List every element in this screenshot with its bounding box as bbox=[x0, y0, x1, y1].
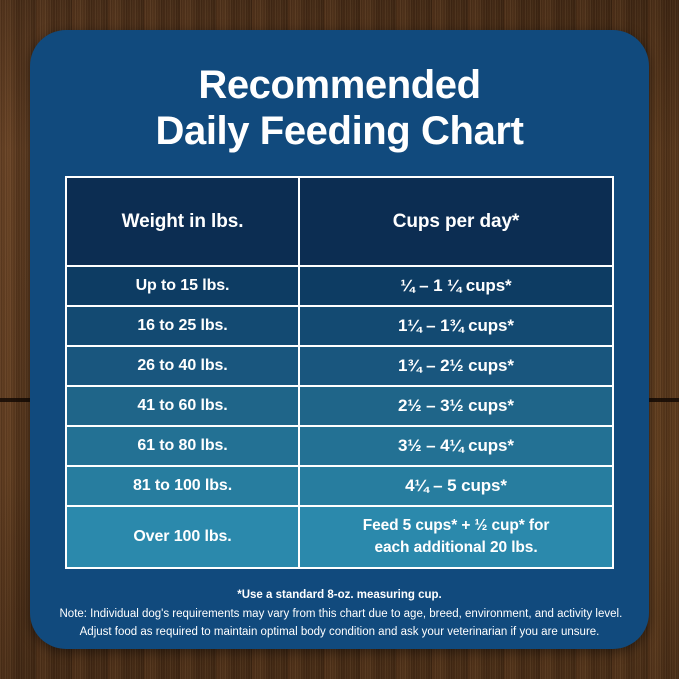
cell-cups: Feed 5 cups* + ½ cup* for each additiona… bbox=[300, 507, 612, 567]
cell-cups: 1¼ – 1¾ cups* bbox=[300, 307, 612, 345]
cell-weight: 41 to 60 lbs. bbox=[67, 387, 300, 425]
cell-weight: Up to 15 lbs. bbox=[67, 267, 300, 305]
table-row: 61 to 80 lbs. 3½ – 4¼ cups* bbox=[67, 427, 612, 467]
column-header-weight: Weight in lbs. bbox=[67, 178, 300, 265]
feeding-chart-table: Weight in lbs. Cups per day* Up to 15 lb… bbox=[65, 176, 614, 569]
footnote-measuring-cup: *Use a standard 8-oz. measuring cup. bbox=[60, 586, 620, 605]
cell-cups-line-1: Feed 5 cups* + ½ cup* for bbox=[363, 515, 550, 537]
cell-weight: 61 to 80 lbs. bbox=[67, 427, 300, 465]
page-title-line-1: Recommended bbox=[30, 63, 649, 109]
cell-cups: ¼ – 1 ¼ cups* bbox=[300, 267, 612, 305]
table-row: Over 100 lbs. Feed 5 cups* + ½ cup* for … bbox=[67, 507, 612, 567]
table-header-row: Weight in lbs. Cups per day* bbox=[67, 178, 612, 267]
table-row: 16 to 25 lbs. 1¼ – 1¾ cups* bbox=[67, 307, 612, 347]
table-row: 81 to 100 lbs. 4¼ – 5 cups* bbox=[67, 467, 612, 507]
footnotes: *Use a standard 8-oz. measuring cup. Not… bbox=[60, 586, 620, 642]
cell-cups: 3½ – 4¼ cups* bbox=[300, 427, 612, 465]
table-row: Up to 15 lbs. ¼ – 1 ¼ cups* bbox=[67, 267, 612, 307]
cell-cups: 2½ – 3½ cups* bbox=[300, 387, 612, 425]
feeding-chart-card: Recommended Daily Feeding Chart Weight i… bbox=[30, 30, 649, 649]
footnote-adjust: Adjust food as required to maintain opti… bbox=[60, 623, 620, 642]
cell-cups-line-2: each additional 20 lbs. bbox=[363, 537, 550, 559]
cell-weight: Over 100 lbs. bbox=[67, 507, 300, 567]
cell-cups: 1¾ – 2½ cups* bbox=[300, 347, 612, 385]
page-title: Recommended Daily Feeding Chart bbox=[30, 63, 649, 154]
table-row: 41 to 60 lbs. 2½ – 3½ cups* bbox=[67, 387, 612, 427]
cell-weight: 81 to 100 lbs. bbox=[67, 467, 300, 505]
column-header-cups: Cups per day* bbox=[300, 178, 612, 265]
cell-cups: 4¼ – 5 cups* bbox=[300, 467, 612, 505]
cell-weight: 26 to 40 lbs. bbox=[67, 347, 300, 385]
page-title-line-2: Daily Feeding Chart bbox=[30, 109, 649, 155]
footnote-note: Note: Individual dog's requirements may … bbox=[60, 605, 620, 624]
table-row: 26 to 40 lbs. 1¾ – 2½ cups* bbox=[67, 347, 612, 387]
cell-weight: 16 to 25 lbs. bbox=[67, 307, 300, 345]
